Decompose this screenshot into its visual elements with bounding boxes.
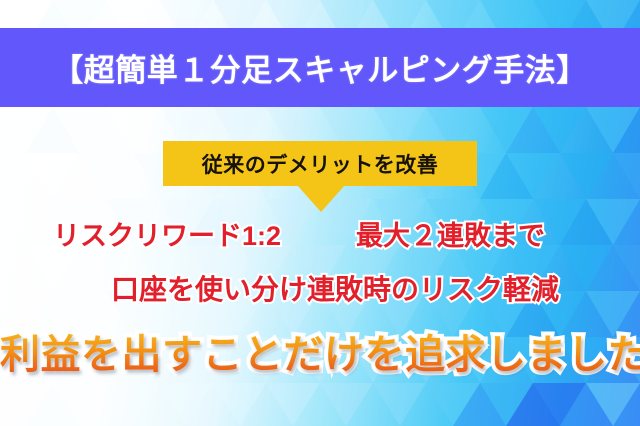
promo-slide: 【超簡単１分足スキャルピング手法】 従来のデメリットを改善 リスクリワード1:2…	[0, 0, 640, 426]
benefit-max-losses: 最大２連敗まで	[356, 214, 545, 253]
benefit-split-accounts: 口座を使い分け連敗時のリスク軽減	[111, 268, 559, 308]
callout-box: 従来のデメリットを改善	[163, 141, 477, 186]
title-banner: 【超簡単１分足スキャルピング手法】	[0, 28, 640, 107]
callout-tail-triangle-icon	[297, 185, 345, 212]
bottom-headline: 利益を出すことだけを追求しました 利益を出すことだけを追求しました	[0, 322, 640, 380]
callout-badge: 従来のデメリットを改善	[163, 141, 477, 186]
bottom-headline-fill: 利益を出すことだけを追求しました	[0, 333, 640, 377]
benefit-risk-reward: リスクリワード1:2	[53, 214, 281, 253]
callout-label: 従来のデメリットを改善	[202, 149, 439, 179]
page-title: 【超簡単１分足スキャルピング手法】	[52, 45, 588, 90]
